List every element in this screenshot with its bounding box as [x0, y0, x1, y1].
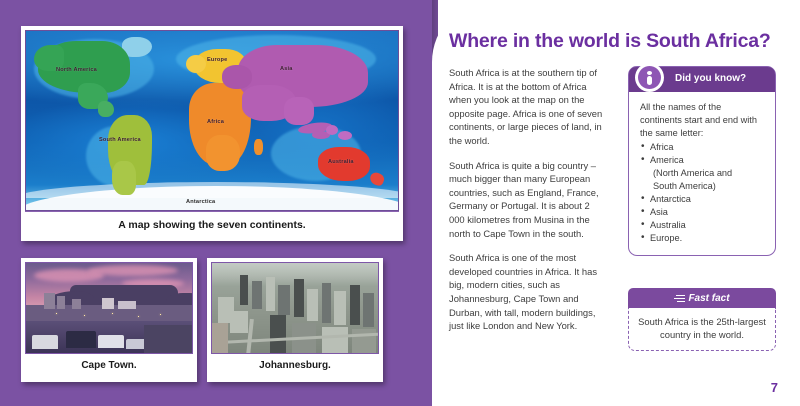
book-spread: North America South America Europe Afric…: [0, 0, 800, 406]
fast-fact-text: South Africa is the 25th-largest country…: [628, 308, 776, 351]
list-item: South America): [640, 180, 765, 193]
cape-town-caption: Cape Town.: [25, 354, 193, 378]
fast-fact-box: Fast fact South Africa is the 25th-large…: [628, 288, 776, 351]
info-icon: [635, 63, 664, 92]
johannesburg-caption: Johannesburg.: [211, 354, 379, 378]
johannesburg-photo: [211, 262, 379, 354]
list-item: Europe.: [640, 232, 765, 245]
fast-fact-header: Fast fact: [628, 288, 776, 308]
did-you-know-body: All the names of the continents start an…: [629, 92, 775, 255]
map-label-north-america: North America: [56, 67, 97, 73]
paragraph-3: South Africa is one of the most develope…: [449, 251, 607, 333]
map-label-australia: Australia: [328, 159, 354, 165]
list-item: Africa: [640, 141, 765, 154]
did-you-know-box: Did you know? All the names of the conti…: [628, 66, 776, 256]
paragraph-2: South Africa is quite a big country – mu…: [449, 159, 607, 241]
did-you-know-title: Did you know?: [675, 73, 746, 84]
left-page: North America South America Europe Afric…: [0, 0, 438, 406]
paragraph-1: South Africa is at the southern tip of A…: [449, 66, 607, 148]
did-you-know-header: Did you know?: [629, 67, 775, 92]
list-item: Antarctica: [640, 193, 765, 206]
map-label-africa: Africa: [207, 119, 224, 125]
map-caption: A map showing the seven continents.: [25, 211, 399, 239]
list-item: (North America and: [640, 167, 765, 180]
right-page: Where in the world is South Africa? Sout…: [432, 0, 800, 406]
map-label-asia: Asia: [280, 66, 293, 72]
photo-figure-johannesburg: Johannesburg.: [207, 258, 383, 382]
map-label-antarctica: Antarctica: [186, 199, 215, 205]
list-item: Asia: [640, 206, 765, 219]
did-you-know-lead: All the names of the continents start an…: [640, 101, 765, 140]
cape-town-photo: [25, 262, 193, 354]
list-item: Australia: [640, 219, 765, 232]
list-item: America: [640, 154, 765, 167]
map-label-europe: Europe: [207, 57, 227, 63]
speed-lines-icon: [674, 294, 685, 303]
body-text-column: South Africa is at the southern tip of A…: [449, 66, 607, 344]
world-map-image: North America South America Europe Afric…: [25, 30, 399, 211]
map-figure: North America South America Europe Afric…: [21, 26, 403, 241]
page-number: 7: [771, 380, 778, 395]
fast-fact-title: Fast fact: [688, 293, 729, 304]
continent-list: Africa America (North America and South …: [640, 141, 765, 245]
map-label-south-america: South America: [99, 137, 141, 143]
page-title: Where in the world is South Africa?: [449, 30, 779, 53]
photo-figure-cape-town: Cape Town.: [21, 258, 197, 382]
